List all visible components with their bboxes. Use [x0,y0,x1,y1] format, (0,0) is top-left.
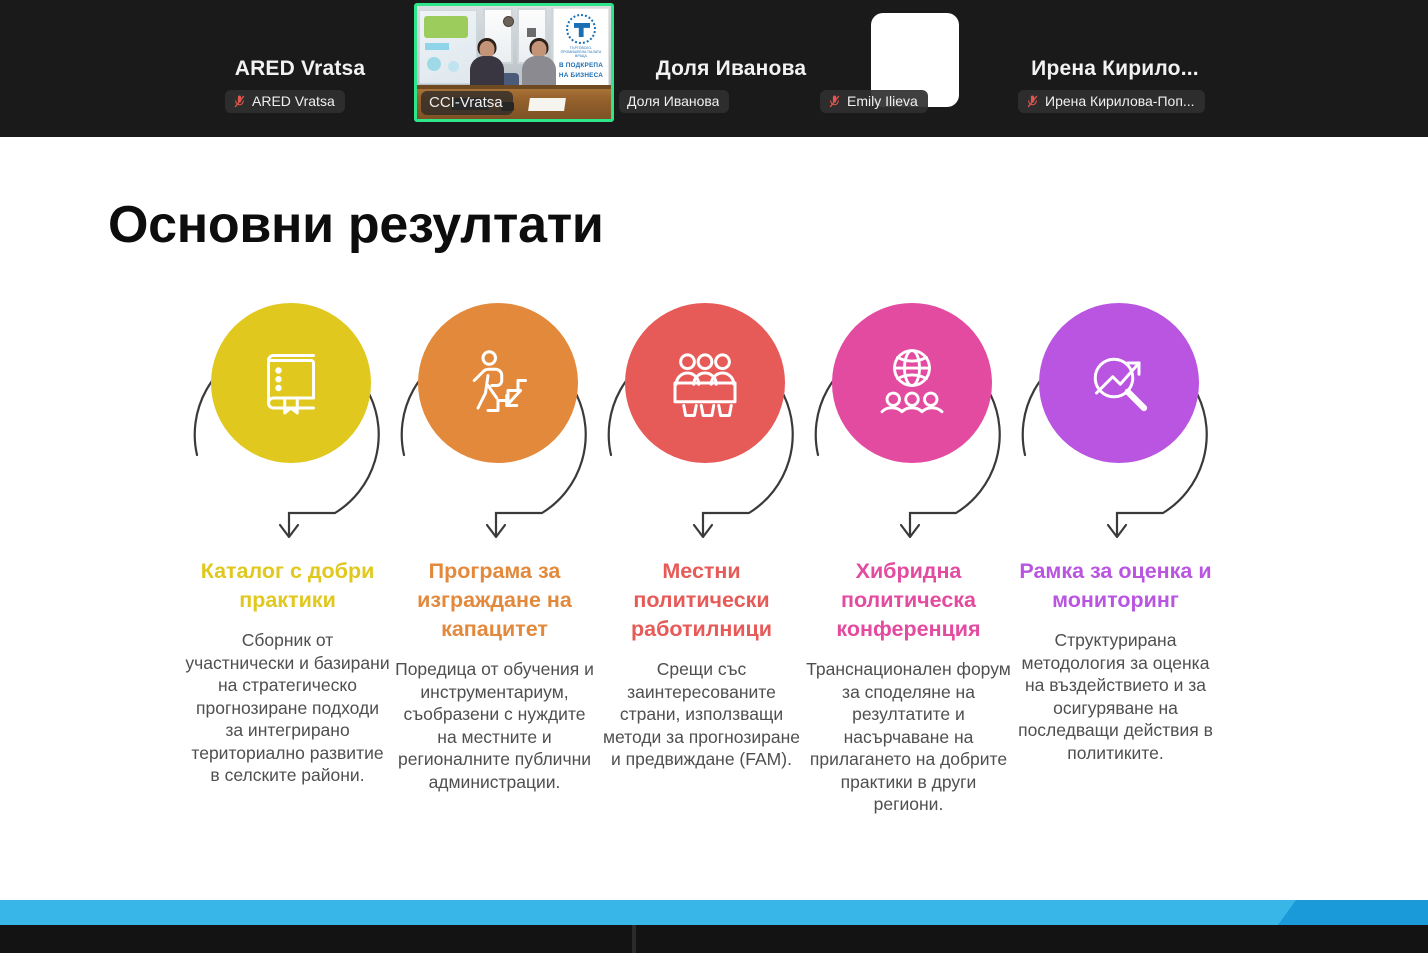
bottom-bar-divider [632,925,636,953]
participant-badge-label: Emily Ilieva [847,93,918,109]
participant-badge: ARED Vratsa [225,90,345,113]
results-pipeline [185,285,1243,565]
zoom-participant-strip: ARED Vratsa ARED Vratsa ТЪРГОВСКО-ПРОМИ [0,0,1428,137]
pipeline-node-4 [806,285,1011,565]
result-body: Сборник от участнически и базирани на ст… [185,629,390,787]
wall-clock [503,16,514,27]
result-heading: Рамка за оценка и мониторинг [1013,557,1218,615]
result-heading: Хибридна политическа конференция [806,557,1011,644]
pipeline-node-3 [599,285,804,565]
papers [528,98,566,111]
banner-slogan-line1: В ПОДКРЕПА [557,61,605,70]
person-climbing-stairs-icon [458,343,538,423]
node-circle [625,303,785,463]
mic-muted-icon [1026,94,1039,109]
pipeline-node-2 [392,285,597,565]
app-bottom-bar [0,925,1428,953]
participant-name: Ирена Кирило... [1031,57,1199,81]
participant-badge-label: ARED Vratsa [252,93,335,109]
result-body: Структурирана методология за оценка на в… [1013,629,1218,764]
pipeline-node-1 [185,285,390,565]
magnifier-trend-icon [1079,343,1159,423]
participant-badge-label: Доля Иванова [627,93,719,109]
presentation-slide: Основни резултати [0,137,1428,953]
chamber-logo-icon [566,14,596,44]
participant-badge-label: CCI-Vratsa [429,94,503,111]
mic-muted-icon [233,94,246,109]
node-circle [832,303,992,463]
slide-footer-bar [0,900,1428,925]
node-circle [418,303,578,463]
result-column-1: Каталог с добри практики Сборник от учас… [185,557,390,787]
result-heading: Местни политически работилници [599,557,804,644]
slide-footer-accent [1278,900,1428,925]
result-column-2: Програма за изграждане на капацитет Поре… [392,557,597,793]
node-circle [1039,303,1199,463]
participant-tile-1[interactable]: ARED Vratsa ARED Vratsa [185,0,415,137]
participant-badge: Ирена Кирилова-Поп... [1018,90,1205,113]
result-column-5: Рамка за оценка и мониторинг Структурира… [1013,557,1218,764]
participant-tile-2-video[interactable]: ТЪРГОВСКО-ПРОМИШЛЕНА ПАЛАТА ВРАЦА В ПОДК… [414,3,614,122]
result-column-4: Хибридна политическа конференция Трансна… [806,557,1011,816]
participant-badge-label: Ирена Кирилова-Поп... [1045,93,1195,109]
people-at-table-icon [665,343,745,423]
result-body: Поредица от обучения и инструментариум, … [392,658,597,793]
participant-badge: Emily Ilieva [820,90,928,113]
participant-badge: CCI-Vratsa [421,91,513,115]
banner-org-name: ТЪРГОВСКО-ПРОМИШЛЕНА ПАЛАТА ВРАЦА [558,46,604,54]
result-heading: Каталог с добри практики [185,557,390,615]
participant-tile-5[interactable]: Ирена Кирило... Ирена Кирилова-Поп... [1000,0,1230,137]
pipeline-node-5 [1013,285,1218,565]
result-body: Срещи със заинтересованите страни, изпол… [599,658,804,771]
book-bookmark-icon [251,343,331,423]
result-body: Транснационален форум за споделяне на ре… [806,658,1011,816]
result-heading: Програма за изграждане на капацитет [392,557,597,644]
participant-tile-3[interactable]: Доля Иванова Доля Иванова [616,0,846,137]
participant-badge: Доля Иванова [619,90,729,113]
wall-frame [527,28,536,37]
participant-name: ARED Vratsa [235,57,366,81]
node-circle [211,303,371,463]
page-title: Основни резултати [108,195,604,255]
participant-name: Доля Иванова [656,57,807,81]
result-column-3: Местни политически работилници Срещи със… [599,557,804,771]
banner-slogan-line2: НА БИЗНЕСА [557,71,605,80]
globe-people-icon [872,343,952,423]
mic-muted-icon [828,94,841,109]
